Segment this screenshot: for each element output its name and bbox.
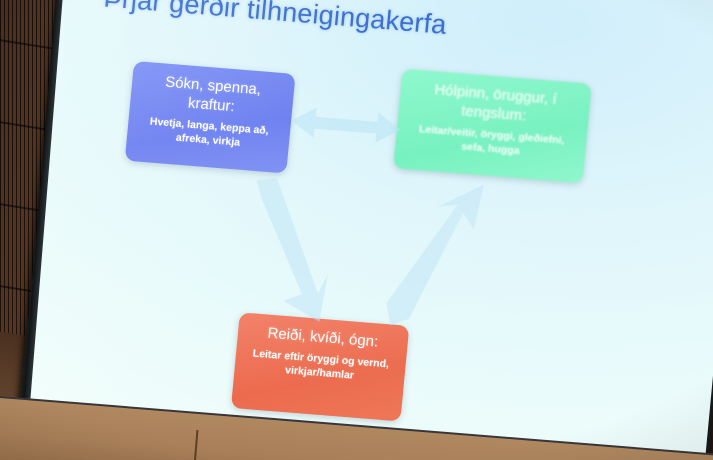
arrow-down-right-icon	[238, 176, 337, 322]
projection-screen: Þrjár gerðir tilhneigingakerfa Sókn, spe…	[18, 0, 713, 460]
concept-box-threat-subtext: Leitar eftir öryggi og vernd, virkjar/ha…	[244, 347, 396, 387]
presentation-slide: Þrjár gerðir tilhneigingakerfa Sókn, spe…	[21, 0, 713, 460]
concept-box-threat: Reiði, kvíði, ógn: Leitar eftir öryggi o…	[231, 312, 409, 421]
concept-box-drive-heading: Sókn, spenna, kraftur:	[140, 71, 285, 121]
arrow-up-right-icon	[384, 178, 488, 333]
slide-title: Þrjár gerðir tilhneigingakerfa	[102, 0, 663, 58]
concept-box-secure-heading: Hólpinn, öruggur, í tengslum:	[408, 78, 581, 130]
concept-box-secure: Hólpinn, öruggur, í tengslum: Leitar/vei…	[393, 69, 592, 184]
concept-box-secure-subtext: Leitar/veitir, öryggi, gleðiefni, sefa, …	[405, 123, 577, 164]
concept-box-drive-subtext: Hvetja, langa, keppa að, afreka, virkja	[136, 115, 280, 154]
double-headed-arrow-icon	[290, 104, 403, 147]
screen-frame: Þrjár gerðir tilhneigingakerfa Sókn, spe…	[18, 0, 713, 460]
concept-box-drive: Sókn, spenna, kraftur: Hvetja, langa, ke…	[125, 61, 296, 174]
lecture-room-photo: Þrjár gerðir tilhneigingakerfa Sókn, spe…	[0, 0, 713, 460]
